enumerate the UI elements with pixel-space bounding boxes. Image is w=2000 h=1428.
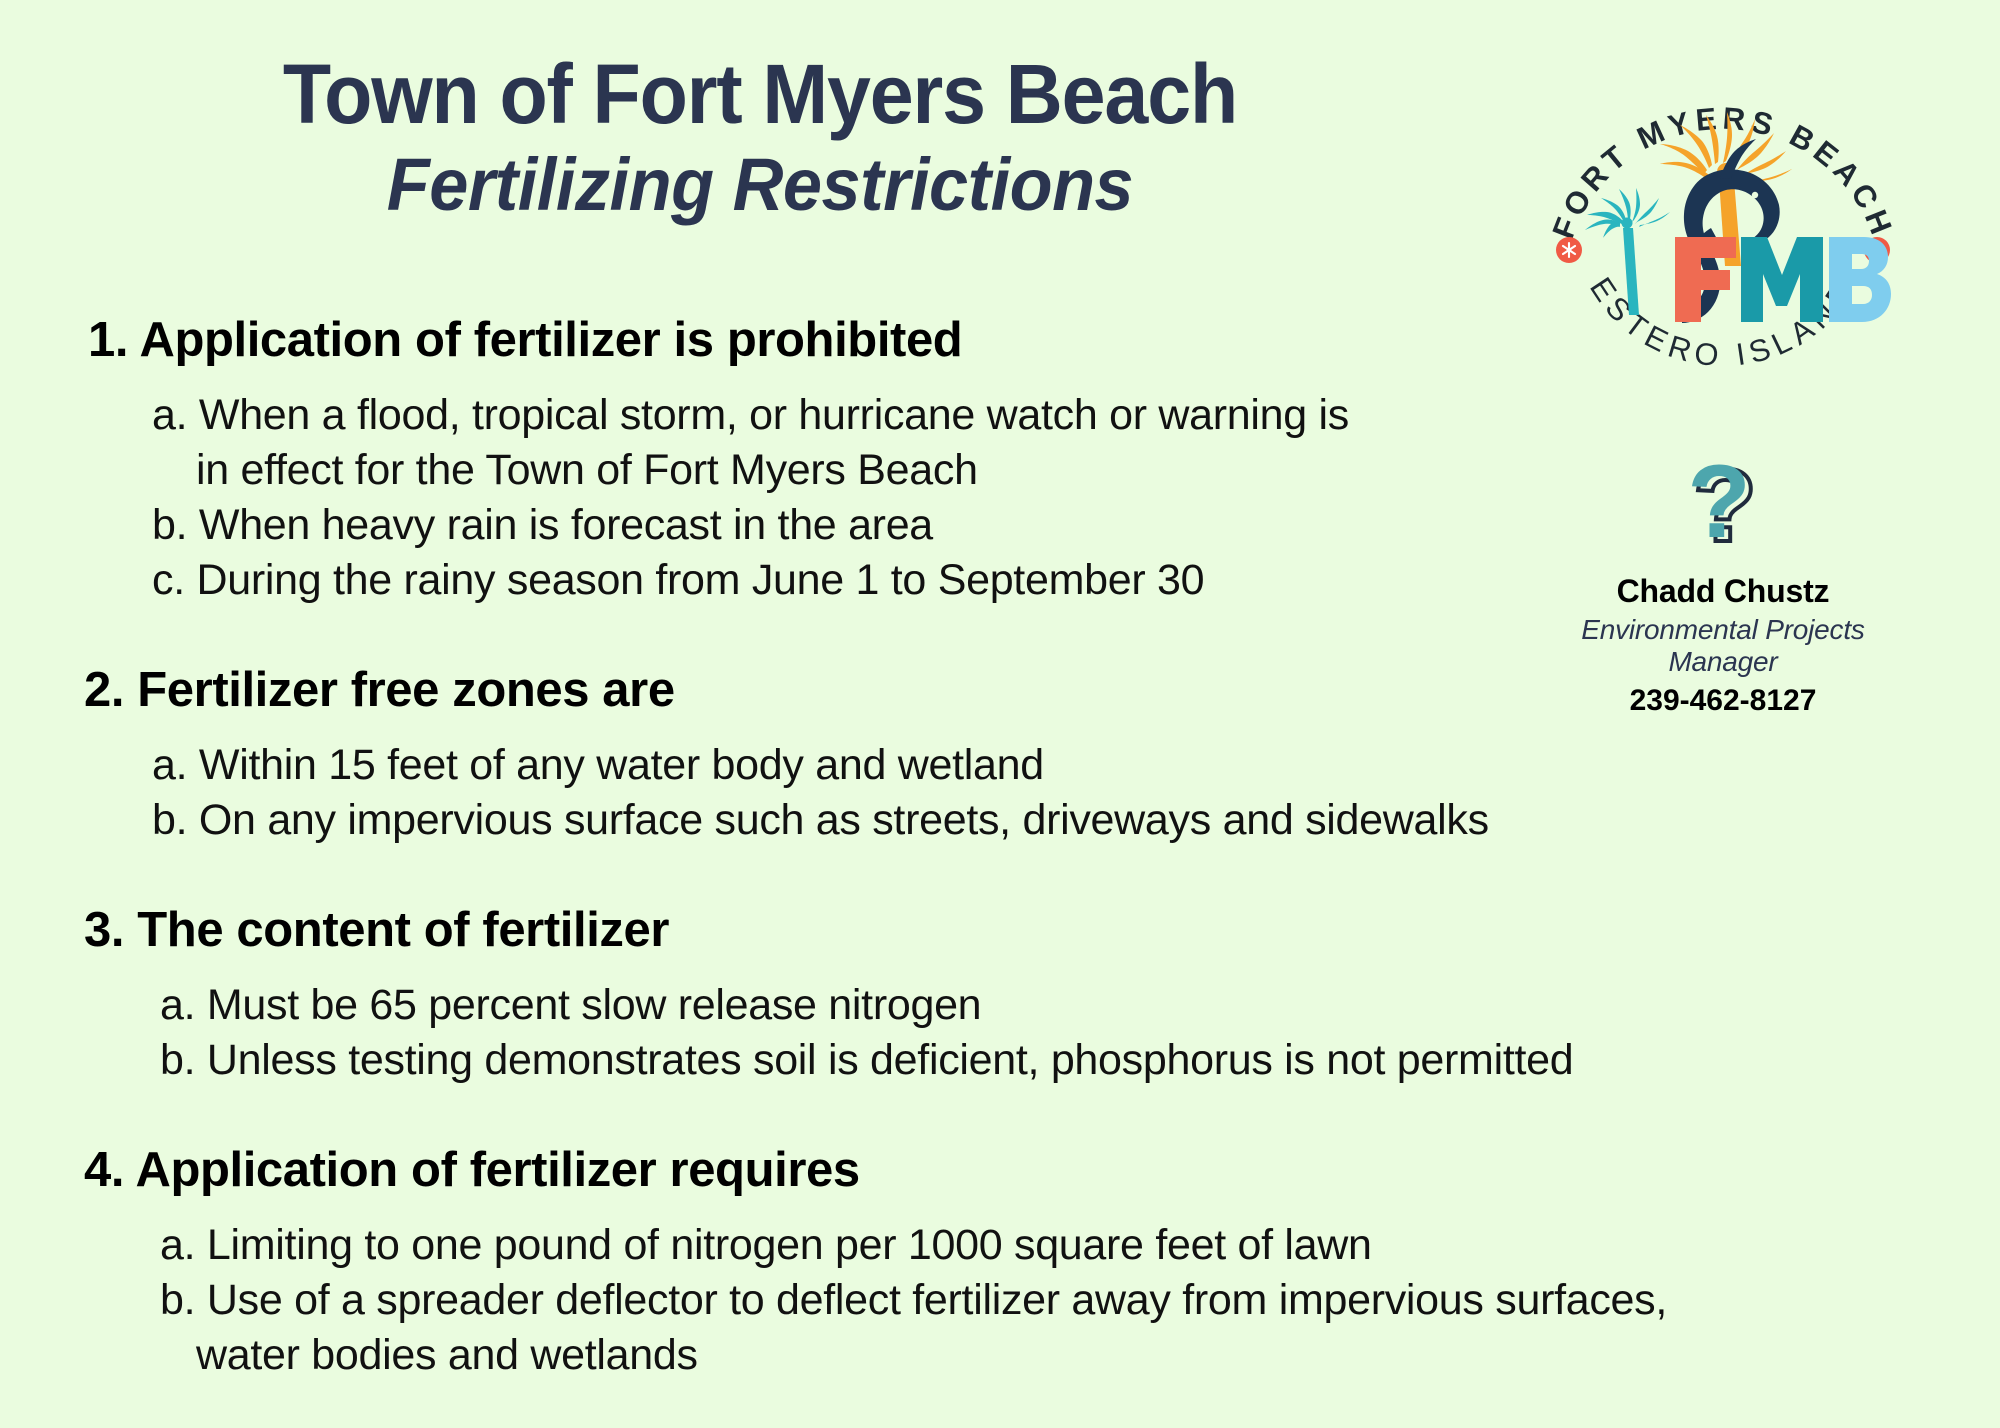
section-3-heading: 3. The content of fertilizer — [0, 902, 1900, 960]
sand-dollar-icon — [1556, 237, 1582, 263]
section-1: 1. Application of fertilizer is prohibit… — [0, 312, 1900, 608]
section-4: 4. Application of fertilizer requires a.… — [0, 1142, 1900, 1383]
section-4-item-b-cont: water bodies and wetlands — [0, 1328, 1900, 1383]
restrictions-list: 1. Application of fertilizer is prohibit… — [0, 312, 1900, 1391]
section-2-item-b: b. On any impervious surface such as str… — [0, 793, 1900, 848]
flyer-page: { "page": { "background_color": "#eafcdf… — [0, 0, 2000, 1428]
page-title: Town of Fort Myers Beach Fertilizing Res… — [0, 52, 1520, 227]
section-3-item-a: a. Must be 65 percent slow release nitro… — [0, 978, 1900, 1033]
section-2-item-a: a. Within 15 feet of any water body and … — [0, 738, 1900, 793]
section-1-item-c: c. During the rainy season from June 1 t… — [0, 553, 1900, 608]
section-1-item-a-cont: in effect for the Town of Fort Myers Bea… — [0, 443, 1900, 498]
section-4-item-a: a. Limiting to one pound of nitrogen per… — [0, 1218, 1900, 1273]
section-4-item-b: b. Use of a spreader deflector to deflec… — [0, 1273, 1900, 1328]
section-1-heading: 1. Application of fertilizer is prohibit… — [0, 312, 1900, 370]
section-4-heading: 4. Application of fertilizer requires — [0, 1142, 1900, 1200]
title-line-subtitle: Fertilizing Restrictions — [38, 142, 1482, 227]
section-1-item-b: b. When heavy rain is forecast in the ar… — [0, 498, 1900, 553]
section-2-heading: 2. Fertilizer free zones are — [0, 662, 1900, 720]
section-1-item-a: a. When a flood, tropical storm, or hurr… — [0, 388, 1900, 443]
section-3-item-b: b. Unless testing demonstrates soil is d… — [0, 1033, 1900, 1088]
title-line-main: Town of Fort Myers Beach — [46, 52, 1475, 136]
section-2: 2. Fertilizer free zones are a. Within 1… — [0, 662, 1900, 848]
section-3: 3. The content of fertilizer a. Must be … — [0, 902, 1900, 1088]
